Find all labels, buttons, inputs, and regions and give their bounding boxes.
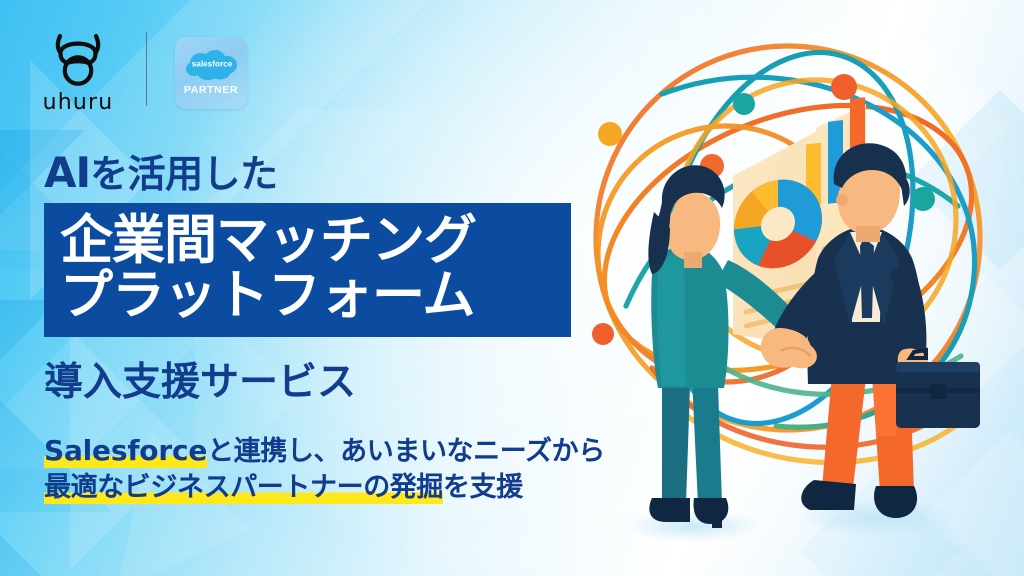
lede-highlight-partner: 最適なビジネスパートナーの発掘	[44, 472, 443, 504]
uhuru-wordmark: uhuru	[43, 90, 114, 115]
lede-highlight-salesforce: Salesforce	[44, 434, 207, 468]
logo-divider	[146, 32, 147, 106]
salesforce-partner-badge[interactable]: salesforce PARTNER	[175, 37, 247, 109]
kicker-line: AIを活用した	[44, 152, 604, 194]
poster-canvas: uhuru salesforce PARTNER	[0, 0, 1024, 576]
illustration	[566, 6, 1024, 576]
kicker-ai: AI	[44, 148, 90, 197]
node-amber-left	[598, 122, 622, 146]
node-orange-left-low	[592, 323, 614, 345]
node-teal-top	[733, 93, 755, 115]
uhuru-logo[interactable]: uhuru	[36, 30, 120, 115]
lede-line-2: 最適なビジネスパートナーの発掘を支援	[44, 470, 604, 506]
lede-line-1-rest: と連携し、あいまいなニーズから	[207, 436, 605, 467]
salesforce-cloud-icon: salesforce	[186, 50, 236, 80]
lede-line-1: Salesforceと連携し、あいまいなニーズから	[44, 433, 604, 470]
node-teal-right	[911, 187, 935, 211]
node-orange-top	[831, 74, 857, 100]
salesforce-cloud-label: salesforce	[192, 59, 233, 68]
brand-logo-row: uhuru salesforce PARTNER	[36, 30, 247, 115]
lede-line-2-rest: を支援	[443, 472, 523, 503]
shadow-woman	[625, 510, 761, 542]
lede-block: Salesforceと連携し、あいまいなニーズから 最適なビジネスパートナーの発…	[44, 433, 604, 506]
uhuru-mark-icon	[52, 30, 104, 88]
salesforce-partner-label: PARTNER	[184, 84, 238, 96]
headline-block: AIを活用した 企業間マッチング プラットフォーム 導入支援サービス Sales…	[44, 152, 604, 506]
title-box: 企業間マッチング プラットフォーム	[44, 203, 571, 337]
subtitle: 導入支援サービス	[44, 351, 604, 407]
title-line-1: 企業間マッチング	[60, 213, 555, 268]
title-line-2: プラットフォーム	[60, 268, 555, 323]
kicker-rest: を活用した	[90, 152, 278, 196]
